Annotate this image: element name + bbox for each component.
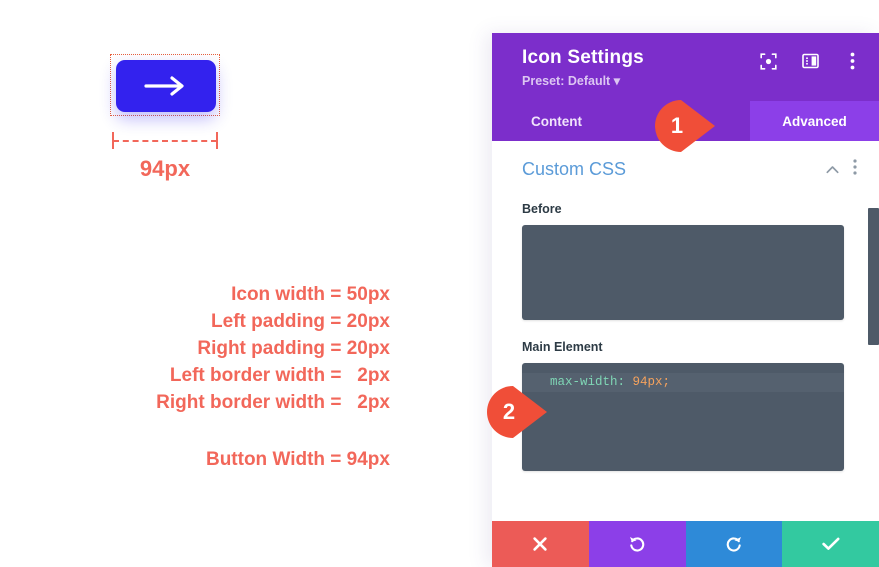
undo-button[interactable] (589, 521, 686, 567)
more-vertical-icon[interactable] (853, 159, 857, 180)
undo-icon (628, 535, 646, 553)
redo-button[interactable] (686, 521, 783, 567)
spec-total-label: Button Width = 94px (0, 449, 390, 471)
focus-target-icon[interactable] (759, 52, 777, 70)
chevron-up-icon[interactable] (826, 161, 839, 179)
main-element-code[interactable]: max-width: 94px; (522, 363, 844, 471)
close-icon (532, 536, 548, 552)
redo-icon (725, 535, 743, 553)
tab-content[interactable]: Content (492, 101, 621, 141)
dimension-cap-right (216, 132, 218, 149)
preset-selector[interactable]: Preset: Default ▾ (522, 73, 861, 88)
step-marker-1: 1 (655, 100, 717, 152)
marker-label: 2 (487, 386, 531, 438)
dimension-label: 94px (110, 156, 220, 182)
button-outline-box (110, 54, 220, 116)
code-value: 94px; (633, 375, 671, 389)
header-icon-group (759, 52, 861, 70)
section-title: Custom CSS (522, 159, 626, 180)
save-button[interactable] (782, 521, 879, 567)
dimension-rule (113, 140, 217, 142)
arrow-right-icon (143, 75, 189, 97)
modal-body: Custom CSS B (492, 141, 879, 521)
cancel-button[interactable] (492, 521, 589, 567)
screenshot-root: 94px Icon width = 50px Left padding = 20… (0, 0, 879, 567)
more-vertical-icon[interactable] (843, 52, 861, 70)
custom-css-section-header: Custom CSS (522, 159, 857, 180)
dimension-line (110, 130, 220, 152)
icon-button-preview[interactable] (116, 60, 216, 112)
section-controls (826, 159, 857, 180)
annotation-panel: 94px Icon width = 50px Left padding = 20… (0, 0, 470, 567)
field-label-before: Before (522, 202, 857, 216)
spec-list: Icon width = 50px Left padding = 20px Ri… (0, 281, 390, 416)
modal-footer (492, 521, 879, 567)
code-line[interactable]: max-width: 94px; (522, 373, 844, 392)
check-icon (822, 537, 840, 551)
marker-label: 1 (655, 100, 699, 152)
field-label-main-element: Main Element (522, 340, 857, 354)
modal-scrollbar[interactable] (868, 208, 879, 345)
modal-header: Icon Settings Preset: Default ▾ (492, 33, 879, 101)
step-marker-2: 2 (487, 386, 549, 438)
before-code-input[interactable] (522, 225, 844, 320)
tab-advanced[interactable]: Advanced (750, 101, 879, 141)
layout-panel-icon[interactable] (801, 52, 819, 70)
code-property: max-width: (550, 375, 625, 389)
field-spacer (522, 320, 857, 340)
